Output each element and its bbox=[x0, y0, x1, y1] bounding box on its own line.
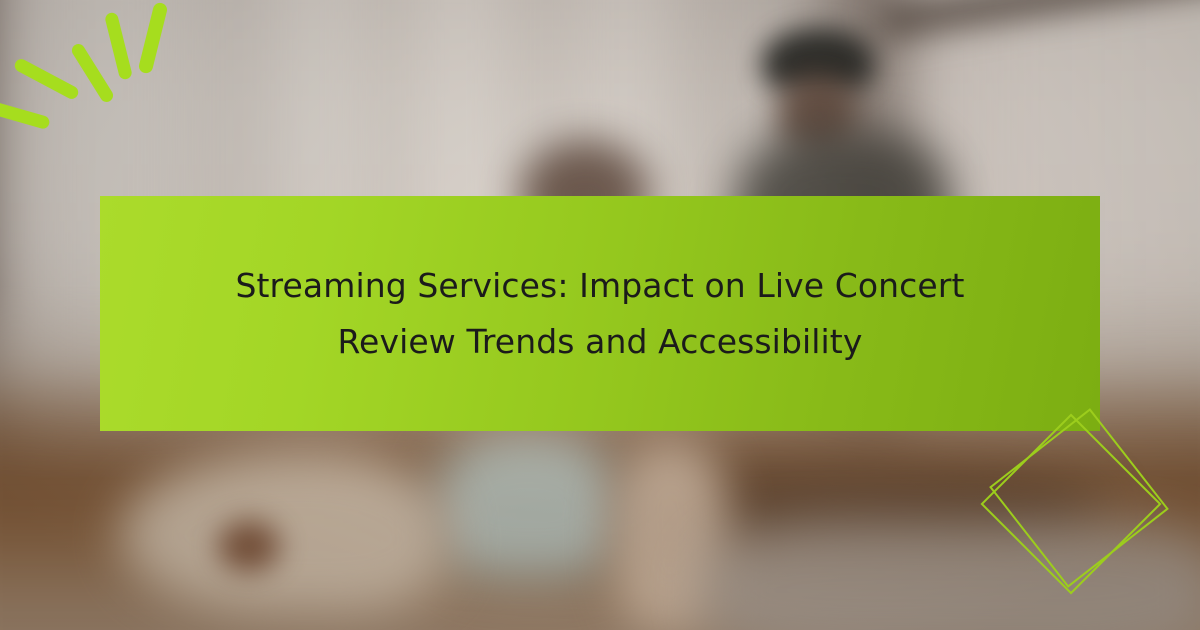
rotated-square-front bbox=[989, 408, 1169, 588]
rotated-squares-icon bbox=[985, 420, 1200, 630]
page-title: Streaming Services: Impact on Live Conce… bbox=[165, 258, 1035, 370]
sparkle-dash-2 bbox=[104, 11, 133, 80]
title-banner: Streaming Services: Impact on Live Conce… bbox=[100, 196, 1100, 431]
banner-image: Streaming Services: Impact on Live Conce… bbox=[0, 0, 1200, 630]
sparkle-burst-icon bbox=[0, 0, 200, 170]
sparkle-dash-5 bbox=[0, 98, 51, 130]
sparkle-dash-4 bbox=[13, 57, 81, 101]
sparkle-dash-1 bbox=[137, 1, 168, 74]
